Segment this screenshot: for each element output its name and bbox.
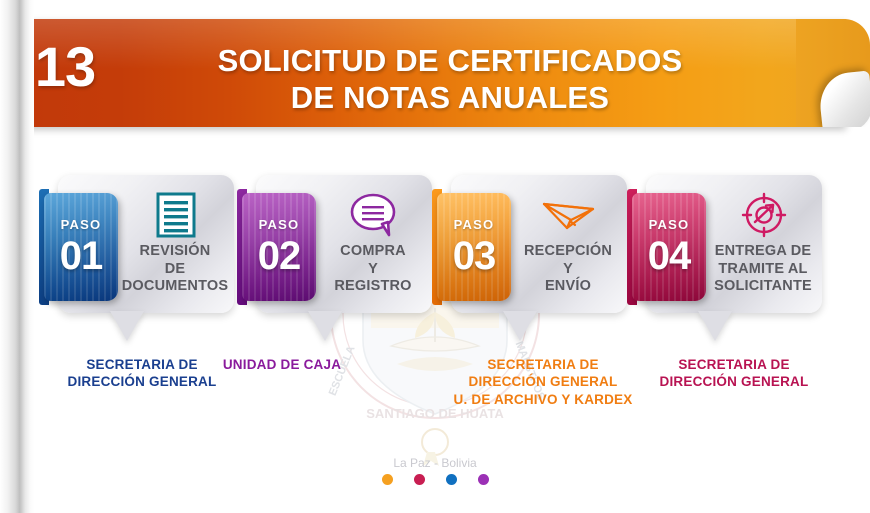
step-label-line2: TRAMITE AL xyxy=(708,261,818,279)
step-number: 02 xyxy=(242,235,316,277)
bullet-dots-row xyxy=(0,474,870,485)
page-title: SOLICITUD DE CERTIFICADOS DE NOTAS ANUAL… xyxy=(150,43,750,116)
step-bubble-tail xyxy=(110,311,144,341)
dot-purple xyxy=(478,474,489,485)
step-bubble-tail xyxy=(698,311,732,341)
caption-line1: SECRETARIA DE xyxy=(619,356,849,373)
step-label-line3: ENVÍO xyxy=(513,278,623,296)
step-label-line1: ENTREGA DE xyxy=(708,243,818,261)
dot-blue xyxy=(446,474,457,485)
step-label-line2: Y xyxy=(513,261,623,279)
step-label: RECEPCIÓN Y ENVÍO xyxy=(513,243,623,296)
step-paso-label: PASO xyxy=(44,217,118,232)
banner-number: 13 xyxy=(22,39,108,95)
step-tab[interactable]: PASO 02 xyxy=(242,193,316,301)
header-banner: 13 SOLICITUD DE CERTIFICADOS DE NOTAS AN… xyxy=(0,19,870,127)
step-label-line2: DE xyxy=(120,261,230,279)
step-paso-label: PASO xyxy=(242,217,316,232)
step-label-line1: COMPRA xyxy=(318,243,428,261)
step-label: REVISIÓN DE DOCUMENTOS xyxy=(120,243,230,296)
step-paso-label: PASO xyxy=(437,217,511,232)
banner-page-curl xyxy=(796,19,870,127)
speech-bubble-lines-icon xyxy=(328,189,420,241)
step-label-line3: DOCUMENTOS xyxy=(120,278,230,296)
captions-row: SECRETARIA DE DIRECCIÓN GENERAL UNIDAD D… xyxy=(0,356,870,420)
caption-line2: DIRECCIÓN GENERAL xyxy=(619,373,849,390)
step-tab[interactable]: PASO 03 xyxy=(437,193,511,301)
step-paso-label: PASO xyxy=(632,217,706,232)
step-label-line3: REGISTRO xyxy=(318,278,428,296)
caption-step-02: UNIDAD DE CAJA xyxy=(167,356,397,373)
step-label-line3: SOLICITANTE xyxy=(708,278,818,296)
page-title-line2: DE NOTAS ANUALES xyxy=(150,80,750,117)
step-label: COMPRA Y REGISTRO xyxy=(318,243,428,296)
step-tab[interactable]: PASO 01 xyxy=(44,193,118,301)
crest-city-text: La Paz - Bolivia xyxy=(393,456,476,470)
step-bubble-tail xyxy=(503,311,537,341)
step-bubble-tail xyxy=(308,311,342,341)
target-crosshair-icon xyxy=(718,189,810,241)
step-label: ENTREGA DE TRAMITE AL SOLICITANTE xyxy=(708,243,818,296)
dot-crimson xyxy=(414,474,425,485)
step-number: 03 xyxy=(437,235,511,277)
caption-line3: U. DE ARCHIVO Y KARDEX xyxy=(428,391,658,408)
step-number: 01 xyxy=(44,235,118,277)
caption-line1: UNIDAD DE CAJA xyxy=(167,356,397,373)
infographic-page: NORMAL ESCUELA MAESTROS SANTIAGO DE HUAT… xyxy=(0,0,870,513)
step-number: 04 xyxy=(632,235,706,277)
page-title-line1: SOLICITUD DE CERTIFICADOS xyxy=(218,43,683,78)
step-label-line1: REVISIÓN xyxy=(120,243,230,261)
step-label-line2: Y xyxy=(318,261,428,279)
paper-plane-icon xyxy=(523,189,615,241)
caption-step-04: SECRETARIA DE DIRECCIÓN GENERAL xyxy=(619,356,849,391)
document-lines-icon xyxy=(130,189,222,241)
step-tab[interactable]: PASO 04 xyxy=(632,193,706,301)
step-label-line1: RECEPCIÓN xyxy=(513,243,623,261)
caption-line2: DIRECCIÓN GENERAL xyxy=(27,373,257,390)
dot-orange xyxy=(382,474,393,485)
